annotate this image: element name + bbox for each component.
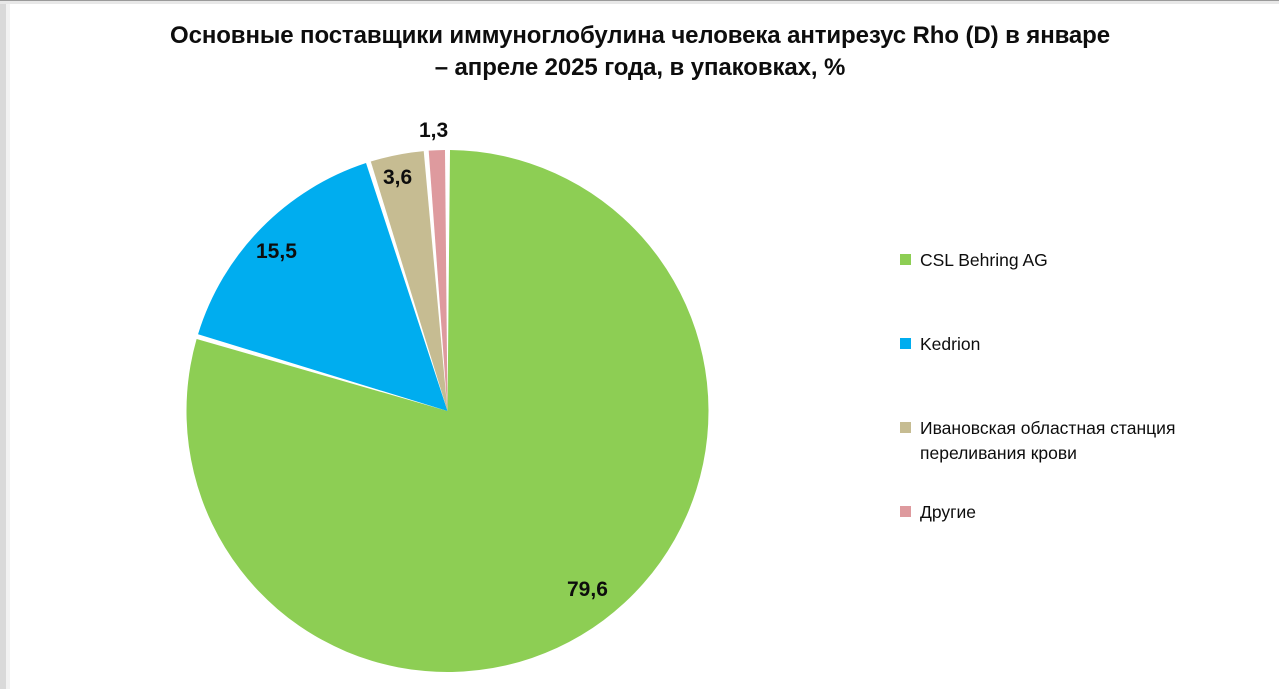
data-label-ivanovo-station: 3,6 (383, 166, 412, 190)
pie-chart-figure: Основные поставщики иммуноглобулина чело… (0, 0, 1279, 689)
legend-swatch-ivanovo-station (900, 422, 911, 433)
chart-title-line-1: Основные поставщики иммуноглобулина чело… (170, 22, 1110, 49)
chart-title: Основные поставщики иммуноглобулина чело… (120, 20, 1160, 84)
chart-title-line-2: – апреле 2025 года, в упаковках, % (435, 54, 846, 81)
pie-svg (0, 0, 900, 689)
pie-slices (186, 150, 708, 672)
legend-swatch-csl-behring (900, 254, 911, 265)
legend-label-other: Другие (920, 500, 976, 525)
data-label-csl-behring: 79,6 (567, 578, 608, 602)
legend-item-ivanovo-station[interactable]: Ивановская областная станция переливания… (900, 416, 1230, 466)
pie-plot-area (0, 0, 900, 689)
legend-item-kedrion[interactable]: Kedrion (900, 332, 980, 357)
legend-label-csl-behring: CSL Behring AG (920, 248, 1048, 273)
data-label-other: 1,3 (419, 119, 448, 143)
legend-label-kedrion: Kedrion (920, 332, 980, 357)
legend-item-other[interactable]: Другие (900, 500, 976, 525)
legend-swatch-other (900, 506, 911, 517)
legend-label-ivanovo-station: Ивановская областная станция переливания… (920, 416, 1230, 466)
data-label-kedrion: 15,5 (256, 240, 297, 264)
legend-swatch-kedrion (900, 338, 911, 349)
legend-item-csl-behring[interactable]: CSL Behring AG (900, 248, 1048, 273)
